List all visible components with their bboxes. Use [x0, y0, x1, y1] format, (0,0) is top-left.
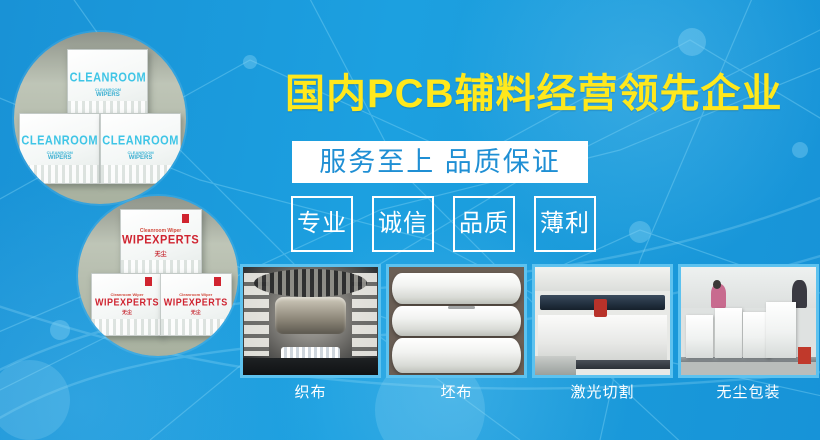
knitting-machine-photo [243, 267, 378, 375]
pack-brand-label: CLEANROOM [70, 71, 147, 85]
pack-subline-2: WIPERS [48, 155, 72, 161]
photo-cleanroom-wipes: CLEANROOM CLEANROOM WIPERS CLEANROOM CLE… [14, 32, 186, 204]
pack-ridges [161, 319, 231, 335]
pack-brand-label: WIPEXPERTS [164, 297, 228, 308]
pack-subline-2: 无尘 [122, 309, 132, 316]
cleanroom-packing-photo [681, 267, 816, 375]
wipe-pack: Cleanroom Wiper WIPEXPERTS 无尘 [120, 209, 202, 278]
thumbnail-caption: 织布 [240, 385, 381, 400]
process-thumbnail-cleanroom-packing: 无尘包装 [678, 264, 819, 400]
pack-subline-2: 无尘 [155, 249, 167, 258]
process-thumbnail-list: 织布 坯布 [240, 264, 819, 400]
process-thumbnail-weaving: 织布 [240, 264, 381, 400]
process-thumbnail-greige-fabric: 坯布 [386, 264, 527, 400]
pack-subline-2: WIPERS [96, 92, 120, 98]
photo-wipexperts-packs: Cleanroom Wiper WIPEXPERTS 无尘 Cleanroom … [78, 196, 238, 356]
feature-tag-professional: 专业 [291, 196, 353, 252]
feature-tag-low-margin: 薄利 [534, 196, 596, 252]
promo-banner: CLEANROOM CLEANROOM WIPERS CLEANROOM CLE… [0, 0, 820, 440]
thumbnail-frame [240, 264, 381, 378]
laser-cutter-photo [535, 267, 670, 375]
pack-ridges [101, 165, 180, 183]
subtitle-text: 服务至上 品质保证 [319, 149, 561, 176]
pack-brand-label: CLEANROOM [102, 134, 179, 148]
pack-subline-2: WIPERS [129, 155, 153, 161]
feature-tag-integrity: 诚信 [372, 196, 434, 252]
thumbnail-caption: 激光切割 [532, 385, 673, 400]
pack-brand-label: CLEANROOM [21, 134, 98, 148]
feature-tag-label: 诚信 [378, 212, 428, 236]
thumbnail-caption: 无尘包装 [678, 385, 819, 400]
pack-brand-label: WIPEXPERTS [95, 297, 159, 308]
feature-tag-label: 品质 [459, 212, 509, 236]
wipe-pack: Cleanroom Wiper WIPEXPERTS 无尘 [91, 273, 163, 336]
thumbnail-frame [678, 264, 819, 378]
feature-tag-label: 薄利 [540, 212, 590, 236]
pack-subline-2: 无尘 [191, 309, 201, 316]
feature-tag-quality: 品质 [453, 196, 515, 252]
process-thumbnail-laser-cutting: 激光切割 [532, 264, 673, 400]
wipe-pack: CLEANROOM CLEANROOM WIPERS [19, 113, 100, 184]
thumbnail-frame [386, 264, 527, 378]
pack-ridges [20, 165, 99, 183]
feature-tag-list: 专业 诚信 品质 薄利 [291, 196, 596, 252]
wipe-pack: Cleanroom Wiper WIPEXPERTS 无尘 [160, 273, 232, 336]
pack-ridges [92, 319, 162, 335]
fabric-rolls-photo [389, 267, 524, 375]
wipe-pack: CLEANROOM CLEANROOM WIPERS [67, 49, 148, 120]
wipe-pack: CLEANROOM CLEANROOM WIPERS [100, 113, 181, 184]
thumbnail-caption: 坯布 [386, 385, 527, 400]
pack-brand-label: WIPEXPERTS [122, 234, 199, 247]
thumbnail-frame [532, 264, 673, 378]
banner-headline: 国内PCB辅料经营领先企业 [285, 74, 782, 114]
subtitle-bar: 服务至上 品质保证 [292, 141, 588, 183]
feature-tag-label: 专业 [297, 212, 347, 236]
